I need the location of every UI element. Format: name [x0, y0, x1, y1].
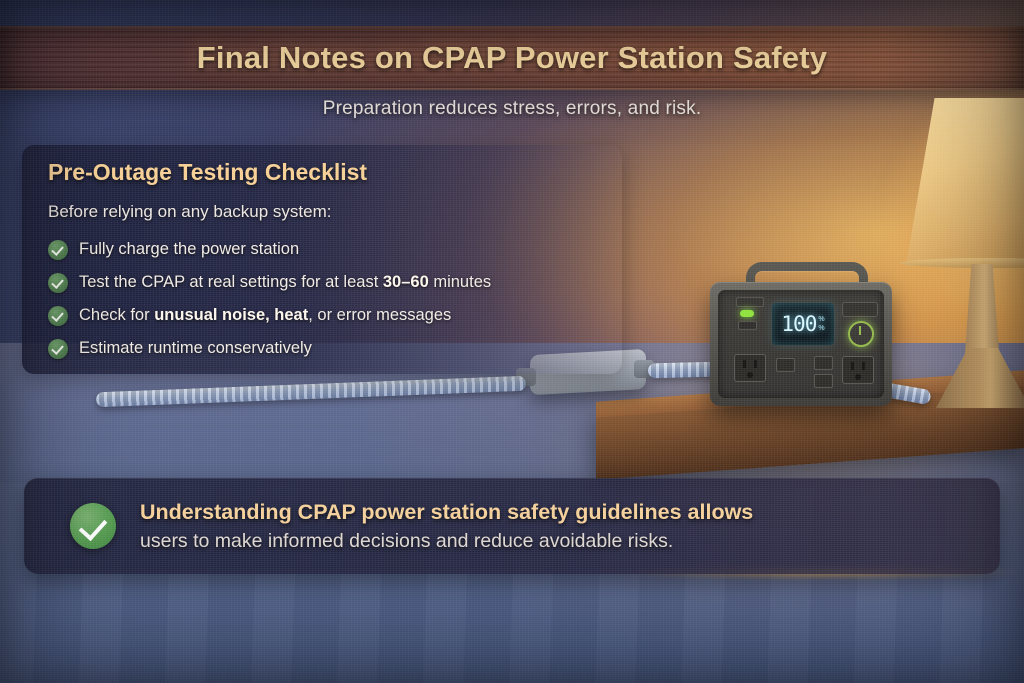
callout-line-1: Understanding CPAP power station safety … [140, 500, 753, 525]
checklist-intro: Before relying on any backup system: [48, 202, 331, 222]
page-subtitle: Preparation reduces stress, errors, and … [0, 98, 1024, 120]
check-circle-icon [48, 240, 68, 260]
percent-unit-top: % [818, 316, 824, 323]
list-item[interactable]: Fully charge the power station [48, 233, 612, 266]
checklist-items: Fully charge the power station Test the … [48, 233, 612, 365]
list-item[interactable]: Estimate runtime conservatively [48, 332, 612, 365]
battery-lcd-display: 100 % % [772, 303, 834, 345]
battery-percent-value: 100 [781, 314, 816, 335]
usb-port-b [814, 356, 833, 370]
checklist-heading: Pre-Outage Testing Checklist [48, 159, 367, 186]
usb-port-a [776, 358, 795, 372]
port-label-tag [736, 297, 764, 307]
list-item-label: Fully charge the power station [79, 240, 299, 259]
list-item-label: Check for unusual noise, heat, or error … [79, 306, 451, 325]
list-item[interactable]: Test the CPAP at real settings for at le… [48, 266, 612, 299]
ac-outlet-left [734, 354, 766, 382]
power-button[interactable] [848, 321, 874, 347]
summary-callout: Understanding CPAP power station safety … [24, 478, 1000, 574]
check-circle-icon [48, 273, 68, 293]
list-item[interactable]: Check for unusual noise, heat, or error … [48, 299, 612, 332]
callout-check-icon [70, 503, 116, 549]
page-title: Final Notes on CPAP Power Station Safety [0, 40, 1024, 76]
list-item-label: Test the CPAP at real settings for at le… [79, 273, 491, 292]
list-item-label: Estimate runtime conservatively [79, 339, 312, 358]
output-toggle-buttons[interactable] [842, 302, 878, 317]
callout-line-2: users to make informed decisions and red… [140, 530, 753, 553]
ac-outlet-right [842, 356, 874, 384]
check-circle-icon [48, 339, 68, 359]
callout-text-block: Understanding CPAP power station safety … [140, 500, 753, 553]
percent-unit-bottom: % [818, 325, 824, 332]
usb-label-tag [738, 321, 757, 330]
check-circle-icon [48, 306, 68, 326]
power-station-front-panel: 100 % % [718, 290, 884, 398]
status-led [740, 310, 754, 317]
usb-port-c [814, 374, 833, 388]
checklist-panel: Pre-Outage Testing Checklist Before rely… [22, 145, 622, 374]
infographic-slide: 100 % % Final Notes on CPAP Power Statio… [0, 0, 1024, 683]
